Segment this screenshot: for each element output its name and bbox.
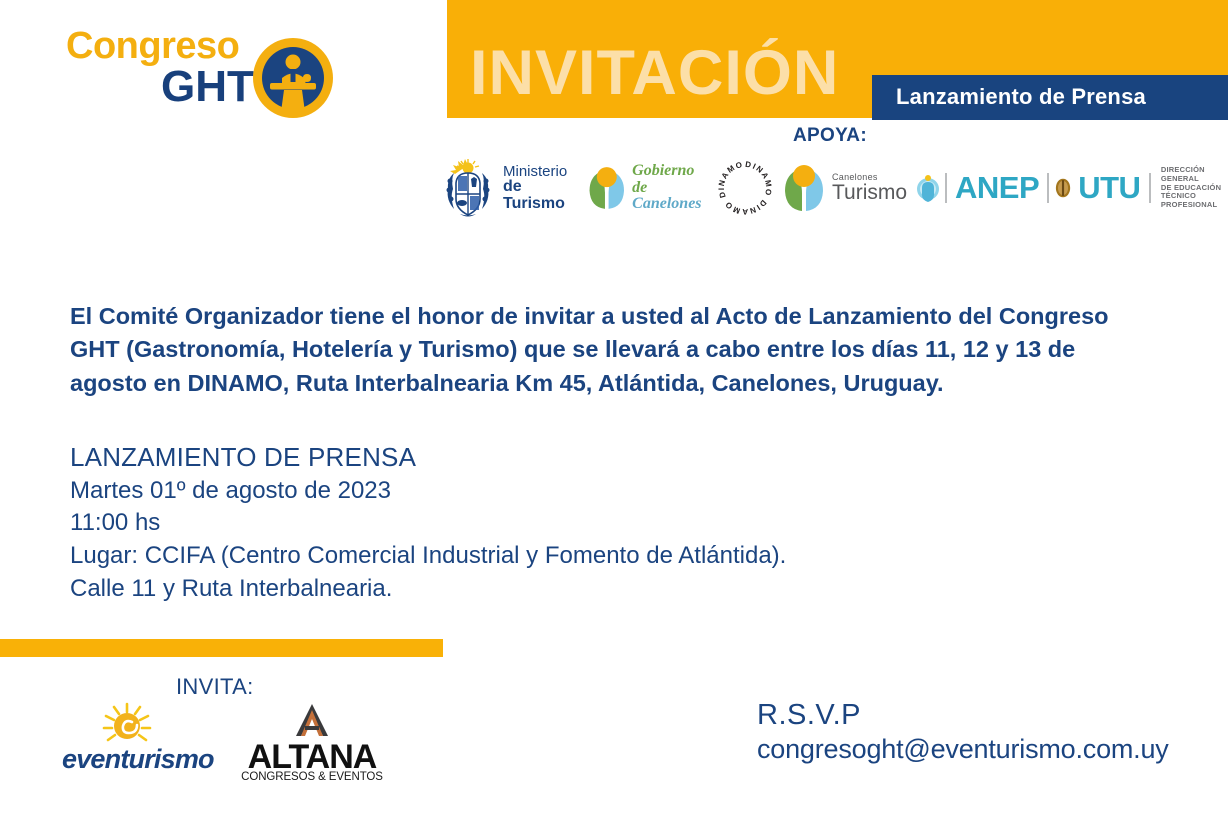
- canelones-turismo-leaf-icon: [780, 157, 828, 219]
- sponsor-utu: UTU DIRECCIÓN GENERAL DE EDUCACIÓN TÉCNI…: [1053, 166, 1228, 210]
- canelones-leaf-sun-icon: [585, 157, 629, 219]
- sponsors-label: APOYA:: [793, 125, 867, 147]
- congreso-ght-logo: Congreso GHT: [66, 27, 336, 122]
- sponsor-dinamo: DINAMO DINAMO DINAMO DINAMO: [716, 159, 774, 217]
- canelones-line2: Canelones: [632, 196, 706, 213]
- logo-word-congreso: Congreso: [66, 27, 239, 65]
- event-place: Lugar: CCIFA (Centro Comercial Industria…: [70, 540, 970, 573]
- eventurismo-wordmark: eventurismo: [62, 746, 214, 773]
- speaker-podium-icon: [251, 36, 335, 120]
- altana-tagline: CONGRESOS & EVENTOS: [238, 772, 386, 784]
- footer-accent-bar: [0, 639, 443, 657]
- event-heading: LANZAMIENTO DE PRENSA: [70, 440, 970, 475]
- dgetp-line3: TÉCNICO PROFESIONAL: [1161, 192, 1228, 210]
- sponsor-uruguay-coat-of-arms: [440, 157, 496, 219]
- dgetp-text: DIRECCIÓN GENERAL DE EDUCACIÓN TÉCNICO P…: [1161, 166, 1228, 210]
- uruguay-coat-of-arms-icon: [440, 157, 496, 219]
- utu-emblem-icon: [1053, 172, 1073, 204]
- sponsor-anep: ANEP: [915, 170, 1053, 206]
- letter-a-monogram-icon: [238, 700, 386, 740]
- logo-word-ght: GHT: [161, 65, 254, 109]
- invitation-paragraph: El Comité Organizador tiene el honor de …: [70, 300, 1150, 400]
- rsvp-email[interactable]: congresoght@eventurismo.com.uy: [757, 733, 1169, 767]
- event-time: 11:00 hs: [70, 507, 970, 540]
- event-address: Calle 11 y Ruta Interbalnearia.: [70, 573, 970, 606]
- sun-spiral-icon: [62, 702, 222, 750]
- dgetp-line1: DIRECCIÓN GENERAL: [1161, 166, 1228, 184]
- dinamo-circular-logo-icon: DINAMO DINAMO DINAMO DINAMO: [716, 159, 774, 217]
- sponsor-logo-row: Ministerio de Turismo Gobierno de Canelo…: [440, 152, 1228, 224]
- ministerio-line1: Ministerio: [503, 164, 573, 179]
- altana-logo: ALTANA CONGRESOS & EVENTOS: [238, 700, 386, 780]
- anep-emblem-icon: [915, 173, 941, 203]
- rsvp-block: R.S.V.P congresoght@eventurismo.com.uy: [757, 697, 1169, 767]
- divider: [1149, 173, 1150, 203]
- status-badge: Lanzamiento de Prensa: [896, 84, 1146, 110]
- invita-label: INVITA:: [176, 674, 253, 700]
- eventurismo-logo: eventurismo: [62, 702, 222, 774]
- sponsor-gobierno-de-canelones: Gobierno de Canelones: [585, 157, 706, 219]
- event-details: LANZAMIENTO DE PRENSA Martes 01º de agos…: [70, 440, 970, 605]
- sponsor-canelones-turismo: Canelones Turismo: [780, 157, 907, 219]
- canelones-turismo-line2: Turismo: [832, 182, 907, 203]
- divider: [945, 173, 947, 203]
- divider: [1047, 173, 1049, 203]
- rsvp-title: R.S.V.P: [757, 697, 1169, 733]
- altana-wordmark: ALTANA: [238, 740, 386, 774]
- page-title: INVITACIÓN: [470, 42, 839, 105]
- canelones-line1: Gobierno de: [632, 163, 706, 197]
- sponsor-ministerio-de-turismo: Ministerio de Turismo: [496, 164, 573, 212]
- ministerio-line2: de Turismo: [503, 179, 573, 212]
- anep-wordmark: ANEP: [955, 170, 1039, 206]
- utu-wordmark: UTU: [1078, 170, 1140, 206]
- svg-text:DINAMO DINAMO DINAMO DINAMO: DINAMO DINAMO DINAMO DINAMO: [716, 159, 773, 216]
- event-date: Martes 01º de agosto de 2023: [70, 475, 970, 508]
- invitation-page: INVITACIÓN Lanzamiento de Prensa Congres…: [0, 0, 1228, 839]
